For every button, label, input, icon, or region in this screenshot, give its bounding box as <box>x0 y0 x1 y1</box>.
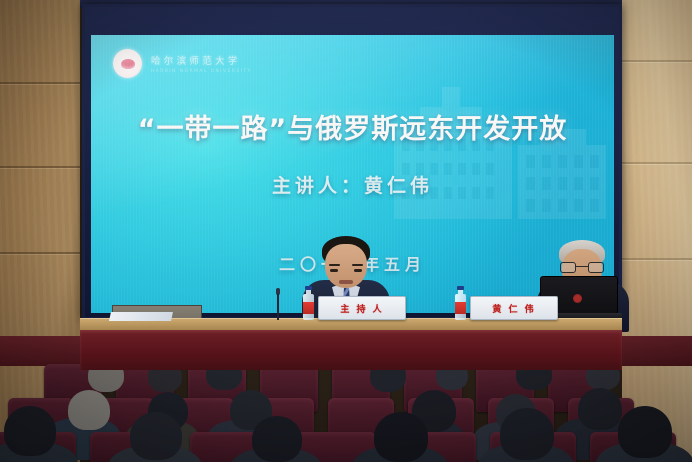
audience-head <box>130 412 182 460</box>
wall-seam <box>622 162 692 164</box>
eyebrow <box>329 264 340 266</box>
water-bottle <box>455 286 466 320</box>
audience-head <box>500 408 554 460</box>
wall-seam <box>0 82 80 84</box>
lens <box>560 262 576 273</box>
audience-head <box>252 416 302 462</box>
documents-on-table <box>109 312 173 321</box>
nameplate-left: 主 持 人 <box>318 296 406 320</box>
speaker-left-face <box>325 244 367 288</box>
eyebrow <box>352 264 363 266</box>
nameplate-left-text: 主 持 人 <box>340 302 383 315</box>
wall-seam <box>0 166 80 168</box>
eye <box>354 269 362 272</box>
podium-table-front <box>80 330 622 370</box>
audience-head <box>4 406 56 456</box>
audience-head <box>618 406 672 458</box>
mouth <box>339 280 353 284</box>
nameplate-right: 黄 仁 伟 <box>470 296 558 320</box>
water-bottle <box>303 286 314 320</box>
seat-row-near <box>0 412 692 462</box>
microphone <box>276 288 280 320</box>
bridge <box>576 266 588 267</box>
audience-head <box>374 412 428 462</box>
laptop-logo-icon <box>573 294 582 303</box>
glasses-icon <box>560 262 604 273</box>
lecture-hall-photo: 哈尔滨师范大学 HARBIN NORMAL UNIVERSITY “一带一路”与… <box>0 0 692 462</box>
lens <box>588 262 604 273</box>
eye <box>330 269 338 272</box>
bottle-label <box>303 302 314 314</box>
nameplate-right-text: 黄 仁 伟 <box>492 302 535 315</box>
bottle-label <box>455 302 466 314</box>
microphone-stem <box>277 294 279 320</box>
wall-seam <box>622 60 692 62</box>
